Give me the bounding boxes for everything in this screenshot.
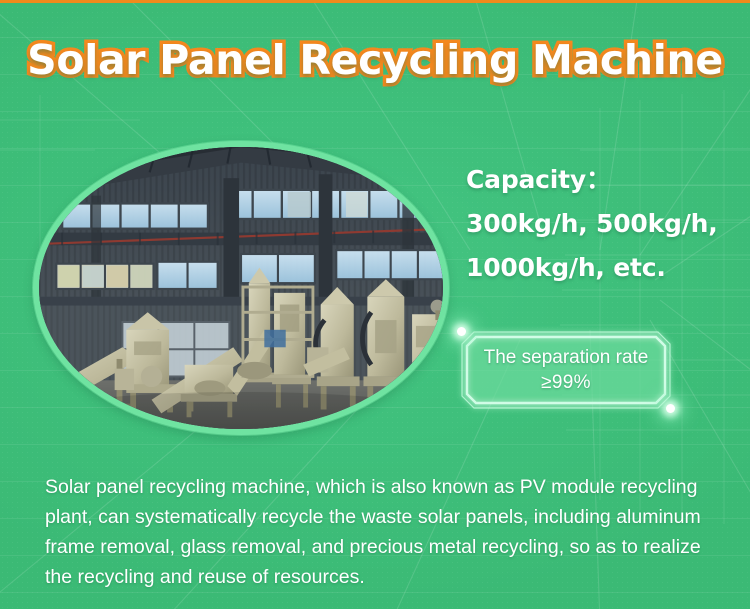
capacity-block: Capacity： 300kg/h, 500kg/h, 1000kg/h, et… <box>466 158 744 290</box>
capacity-heading: Capacity： <box>466 158 744 202</box>
page-title: Solar Panel Recycling Machine <box>0 36 750 84</box>
product-photo <box>33 141 449 435</box>
badge-line-1: The separation rate <box>484 345 649 370</box>
warehouse-scene-illustration <box>33 141 449 435</box>
capacity-line-2: 300kg/h, 500kg/h, <box>466 202 744 246</box>
top-orange-rule <box>0 0 750 3</box>
badge-line-2: ≥99% <box>541 370 591 395</box>
promo-banner: Solar Panel Recycling Machine <box>0 0 750 609</box>
separation-rate-badge: The separation rate ≥99% <box>461 331 671 409</box>
capacity-line-3: 1000kg/h, etc. <box>466 246 744 290</box>
description-paragraph: Solar panel recycling machine, which is … <box>45 472 711 592</box>
badge-text: The separation rate ≥99% <box>461 331 671 409</box>
